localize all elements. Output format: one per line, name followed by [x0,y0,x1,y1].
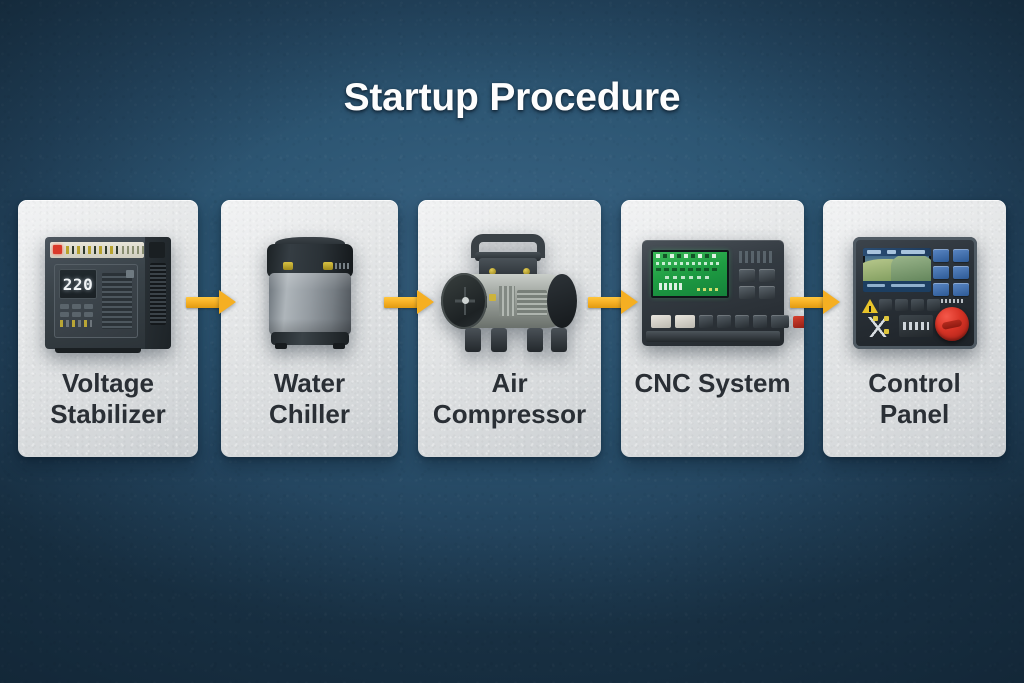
card-artwork-voltage-stabilizer: 220 [18,222,198,364]
power-led-icon [53,245,62,254]
brand-badge [126,270,134,278]
arrow-right-icon-1 [186,290,236,314]
cnc-brand-logo [739,251,775,263]
air-compressor-icon [439,234,581,352]
control-panel-icon [853,237,977,349]
card-artwork-air-compressor [418,222,601,364]
water-chiller-icon [261,237,359,349]
card-artwork-water-chiller [221,222,398,364]
voltage-stabilizer-icon: 220 [45,237,171,349]
lid-badge-right [323,262,333,270]
cnc-button-row[interactable] [651,315,805,328]
cnc-emergency-button[interactable] [793,316,805,328]
step-label-air-compressor: Air Compressor [418,368,601,430]
step-label-cnc-system: CNC System [621,368,804,399]
stabilizer-display: 220 [59,269,97,299]
stabilizer-voltage-value: 220 [59,269,97,299]
card-artwork-cnc-system [621,222,804,364]
arrow-right-icon-2 [384,290,434,314]
cnc-display [651,250,729,298]
arrow-right-icon-3 [588,290,638,314]
startup-procedure-flow: 220 Voltage Stabilizer [18,200,1006,457]
control-panel-switch-row[interactable] [879,299,940,311]
vent-grille [150,263,166,325]
step-card-air-compressor[interactable]: Air Compressor [418,200,601,457]
page-title: Startup Procedure [0,76,1024,120]
card-artwork-control-panel [823,222,1006,364]
control-panel-display [863,248,931,292]
step-card-control-panel[interactable]: Control Panel [823,200,1006,457]
cnc-keypad[interactable] [739,269,775,299]
lid-badge-left [283,262,293,270]
cnc-controller-icon [642,240,784,346]
top-label-strip [50,242,144,258]
step-card-cnc-system[interactable]: CNC System [621,200,804,457]
control-panel-keypad[interactable] [933,249,969,296]
step-card-voltage-stabilizer[interactable]: 220 Voltage Stabilizer [18,200,198,457]
step-label-water-chiller: Water Chiller [221,368,398,430]
rating-tag [489,294,496,301]
step-card-water-chiller[interactable]: Water Chiller [221,200,398,457]
panel-nameplate [903,322,929,330]
step-label-voltage-stabilizer: Voltage Stabilizer [18,368,198,430]
stabilizer-keypad[interactable] [60,304,93,317]
arrow-right-icon-4 [790,290,840,314]
step-label-control-panel: Control Panel [823,368,1006,430]
